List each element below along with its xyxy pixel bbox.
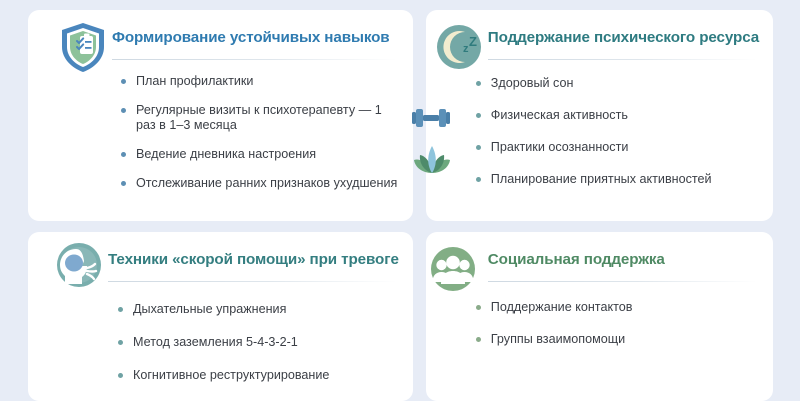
- card-header: Поддержание психического ресурса: [426, 10, 773, 64]
- list-item: Отслеживание ранних признаков ухудшения: [121, 176, 399, 191]
- card-title: Поддержание психического ресурса: [488, 29, 759, 46]
- title-divider: [108, 281, 397, 282]
- card-sustainable-skills: Формирование устойчивых навыков План про…: [28, 10, 413, 221]
- card-header: Техники «скорой помощи» при тревоге: [28, 232, 413, 286]
- list-item: Здоровый сон: [476, 76, 759, 91]
- card-title: Техники «скорой помощи» при тревоге: [108, 251, 399, 268]
- list-item: Поддержание контактов: [476, 300, 759, 315]
- bullet-list: Поддержание контактов Группы взаимопомощ…: [426, 286, 773, 347]
- list-item: Метод заземления 5-4-3-2-1: [118, 335, 399, 350]
- list-item: Практики осознанности: [476, 140, 759, 155]
- list-item: План профилактики: [121, 74, 399, 89]
- bullet-list: Дыхательные упражнения Метод заземления …: [28, 286, 413, 383]
- card-title: Социальная поддержка: [488, 251, 665, 268]
- list-item: Дыхательные упражнения: [118, 302, 399, 317]
- lotus-icon: [412, 141, 452, 177]
- card-emergency-techniques: Техники «скорой помощи» при тревоге Дыха…: [28, 232, 413, 401]
- title-divider: [488, 281, 757, 282]
- list-item: Планирование приятных активностей: [476, 172, 759, 187]
- list-item: Регулярные визиты к психотерапевту — 1 р…: [121, 103, 399, 133]
- list-item: Физическая активность: [476, 108, 759, 123]
- list-item: Ведение дневника настроения: [121, 147, 399, 162]
- list-item: Группы взаимопомощи: [476, 332, 759, 347]
- card-title: Формирование устойчивых навыков: [112, 29, 390, 46]
- card-social-support: Социальная поддержка Поддержание контакт…: [426, 232, 773, 401]
- card-header: Социальная поддержка: [426, 232, 773, 286]
- bullet-list: План профилактики Регулярные визиты к пс…: [28, 64, 413, 191]
- list-item: Когнитивное реструктурирование: [118, 368, 399, 383]
- dumbbell-icon: [410, 103, 452, 133]
- title-divider: [112, 59, 397, 60]
- bullet-list: Здоровый сон Физическая активность Практ…: [426, 64, 773, 187]
- infographic-board: Формирование устойчивых навыков План про…: [0, 0, 800, 400]
- title-divider: [488, 59, 757, 60]
- card-mental-resource: z Z Поддержание психического: [426, 10, 773, 221]
- card-header: Формирование устойчивых навыков: [28, 10, 413, 64]
